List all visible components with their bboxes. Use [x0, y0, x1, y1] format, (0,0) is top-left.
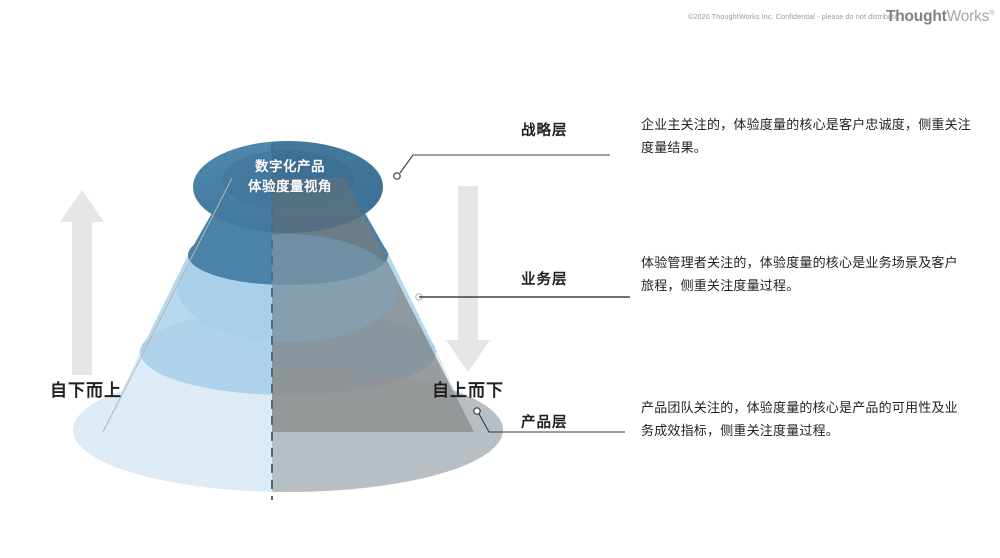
cone-title-line1: 数字化产品: [215, 157, 365, 177]
layer-title-product: 产品层: [521, 411, 568, 432]
layer-title-business: 业务层: [521, 268, 568, 289]
layer-description-product: 产品团队关注的，体验度量的核心是产品的可用性及业务成效指标，侧重关注度量过程。: [641, 396, 963, 442]
leader-line-strategy: [394, 155, 610, 179]
direction-label-top-down: 自上而下: [432, 376, 504, 401]
direction-label-bottom-up: 自下而上: [50, 376, 122, 401]
layer-title-strategy: 战略层: [521, 119, 568, 140]
layer-description-strategy: 企业主关注的，体验度量的核心是客户忠诚度，侧重关注度量结果。: [641, 113, 971, 159]
arrow-down-icon: [446, 186, 490, 372]
arrow-up-icon: [60, 190, 104, 375]
layer-description-business: 体验管理者关注的，体验度量的核心是业务场景及客户旅程，侧重关注度量过程。: [641, 251, 963, 297]
cone-title-line2: 体验度量视角: [215, 177, 365, 197]
leader-line-business: [416, 294, 630, 300]
